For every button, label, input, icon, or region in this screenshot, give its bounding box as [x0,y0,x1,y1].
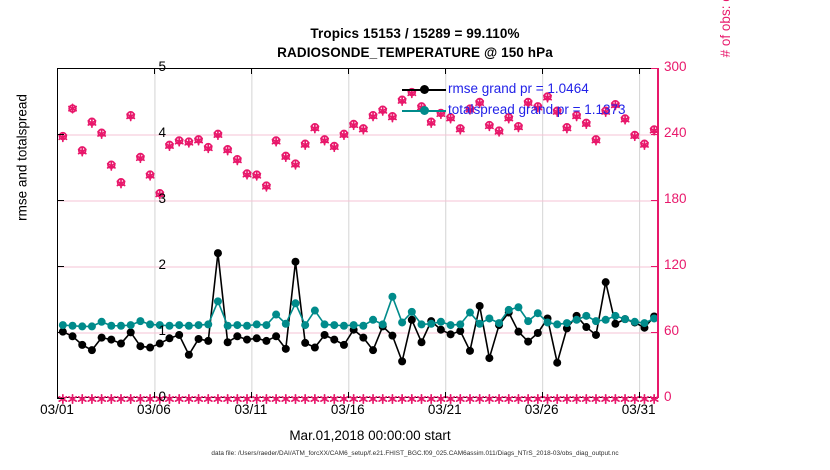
right-axis-tick-mark [651,398,658,399]
legend-marker-icon [420,106,429,115]
left-axis-tick-label: 2 [126,257,166,272]
figure: Tropics 15153 / 15289 = 99.110% RADIOSON… [0,0,830,470]
right-axis-tick-label: 180 [664,191,708,206]
x-axis-tick-mark [154,392,155,398]
x-axis-tick-mark [57,392,58,398]
x-axis-tick-label: 03/16 [308,402,388,417]
left-axis-tick-mark [57,200,64,201]
right-axis-tick-label: 240 [664,125,708,140]
page-subtitle: RADIOSONDE_TEMPERATURE @ 150 hPa [0,45,830,60]
x-axis-tick-label: 03/26 [502,402,582,417]
legend-item-label: rmse grand pr = 1.0464 [448,81,589,96]
x-axis-tick-mark [251,392,252,398]
left-axis-tick-label: 4 [126,125,166,140]
x-axis-top-tick-mark [251,68,252,74]
page-title: Tropics 15153 / 15289 = 99.110% [0,26,830,41]
left-axis-tick-mark [57,134,64,135]
left-axis-tick-label: 5 [126,59,166,74]
right-axis-label: # of obs: o=possible; ∗=assimilated [718,0,734,110]
x-axis-top-tick-mark [57,68,58,74]
right-axis-tick-label: 60 [664,323,708,338]
x-axis-tick-label: 03/31 [599,402,679,417]
x-axis-tick-mark [445,392,446,398]
x-axis-top-tick-mark [542,68,543,74]
legend-item[interactable]: totalspread grand pr = 1.1373 [400,101,650,122]
right-axis-tick-label: 300 [664,59,708,74]
left-axis-tick-mark [57,266,64,267]
x-axis-top-tick-mark [348,68,349,74]
legend-marker-icon [420,85,429,94]
legend: rmse grand pr = 1.0464totalspread grand … [400,80,650,122]
x-axis-top-tick-mark [154,68,155,74]
x-axis-top-tick-mark [639,68,640,74]
left-axis-tick-label: 1 [126,323,166,338]
left-axis-tick-label: 3 [126,191,166,206]
right-axis-tick-label: 120 [664,257,708,272]
x-axis-tick-label: 03/01 [17,402,97,417]
legend-item-label: totalspread grand pr = 1.1373 [448,102,626,117]
x-axis-tick-label: 03/21 [405,402,485,417]
x-axis-tick-label: 03/06 [114,402,194,417]
x-axis-tick-mark [542,392,543,398]
x-axis-label: Mar.01,2018 00:00:00 start [0,428,740,443]
right-axis-spine [657,68,659,398]
x-axis-tick-label: 03/11 [211,402,291,417]
x-axis-top-tick-mark [445,68,446,74]
legend-item[interactable]: rmse grand pr = 1.0464 [400,80,650,101]
left-axis-tick-mark [57,332,64,333]
x-axis-tick-mark [348,392,349,398]
left-axis-tick-mark [57,398,64,399]
left-axis-label: rmse and totalspread [15,8,30,308]
data-file-caption: data file: /Users/raeder/DAI/ATM_forcXX/… [0,450,830,457]
x-axis-tick-mark [639,392,640,398]
